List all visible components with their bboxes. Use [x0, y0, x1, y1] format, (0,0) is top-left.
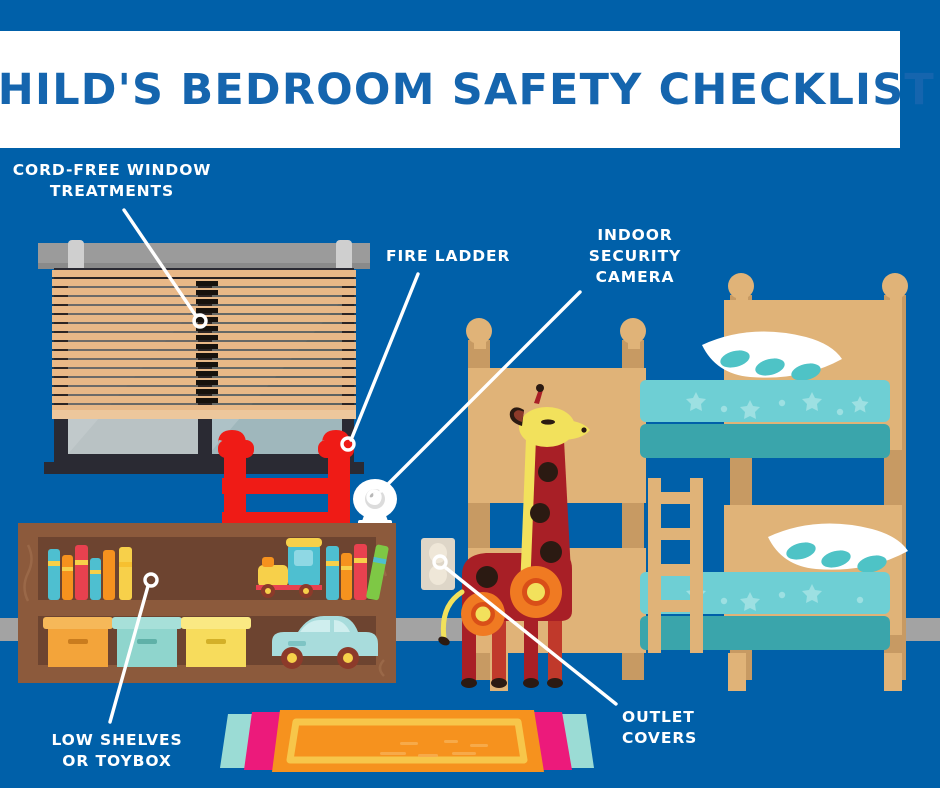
window-with-blinds — [38, 240, 370, 474]
label-indoor-security-camera: INDOOR SECURITY CAMERA — [575, 225, 695, 288]
storage-boxes — [43, 617, 251, 667]
bookshelf-toybox — [18, 523, 396, 683]
books-right — [326, 544, 389, 601]
page-title: CHILD'S BEDROOM SAFETY CHECKLIST — [0, 31, 900, 148]
label-outlet-covers: OUTLET COVERS — [622, 707, 772, 749]
infographic-canvas: CHILD'S BEDROOM SAFETY CHECKLIST CORD-FR… — [0, 0, 940, 788]
label-cord-free-window-treatments: CORD-FREE WINDOW TREATMENTS — [12, 160, 212, 202]
area-rug — [220, 710, 594, 772]
blind-slats — [52, 270, 356, 419]
label-fire-ladder: FIRE LADDER — [386, 246, 536, 267]
label-low-shelves-or-toybox: LOW SHELVES OR TOYBOX — [22, 730, 212, 772]
electrical-outlet — [421, 538, 455, 590]
